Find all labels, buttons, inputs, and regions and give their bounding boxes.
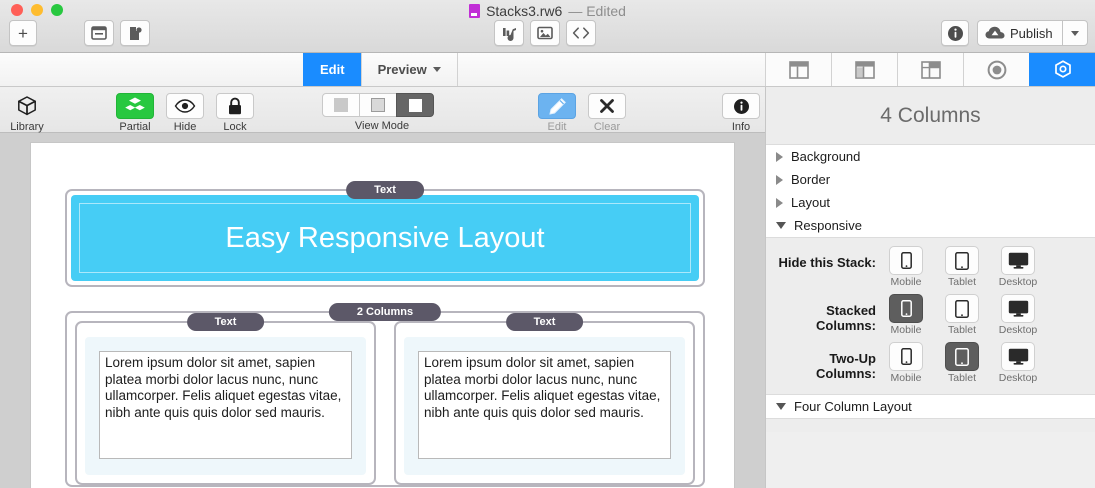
library-button[interactable]: Library <box>2 93 52 133</box>
chevron-down-icon <box>776 222 786 229</box>
desktop-icon <box>1001 246 1035 275</box>
cloud-upload-icon <box>985 26 1005 40</box>
editor-canvas[interactable]: Text Easy Responsive Layout 2 Columns Te… <box>0 133 765 488</box>
inspector-section-border[interactable]: Border <box>766 168 1095 191</box>
twoup-desktop-caption: Desktop <box>996 372 1040 384</box>
desktop-icon <box>1001 294 1035 323</box>
two-up-columns-desktop[interactable]: Desktop <box>996 342 1040 384</box>
desktop-icon <box>1001 342 1035 371</box>
close-button[interactable] <box>11 4 23 16</box>
add-page-button[interactable]: + <box>9 20 37 46</box>
traffic-lights <box>11 4 63 16</box>
hide-this-stack-mobile[interactable]: Mobile <box>884 246 928 288</box>
inspector-section-layout[interactable]: Layout <box>766 191 1095 214</box>
view-mode-option-framed[interactable] <box>396 93 434 117</box>
inspector-title: 4 Columns <box>766 87 1095 145</box>
edit-stack-label: Edit <box>536 121 578 133</box>
column-two-padding: Lorem ipsum dolor sit amet, sapien plate… <box>404 337 685 475</box>
zoom-button[interactable] <box>51 4 63 16</box>
tab-page-style-inspector[interactable] <box>831 53 897 86</box>
two-up-columns-options: Mobile Tablet Desktop <box>884 342 1040 384</box>
hide-this-stack-label: Hide this Stack: <box>766 246 884 270</box>
stacked-columns-options: Mobile Tablet Desktop <box>884 294 1040 336</box>
document-name: Stacks3.rw6 <box>486 3 562 19</box>
stacked-columns-label: Stacked Columns: <box>766 294 884 333</box>
tab-stacks-settings[interactable] <box>1029 53 1095 86</box>
inspector-section-list: Background Border Layout Responsive <box>766 145 1095 237</box>
column-one-badge[interactable]: Text <box>187 313 265 331</box>
publish-label: Publish <box>1010 26 1053 41</box>
master-style-icon <box>127 26 143 41</box>
document-edited-state: — Edited <box>568 3 626 19</box>
chevron-right-icon <box>776 152 783 162</box>
twoup-tablet-caption: Tablet <box>940 372 984 384</box>
two-up-columns-mobile[interactable]: Mobile <box>884 342 928 384</box>
tablet-icon <box>945 294 979 323</box>
outline-square-icon <box>371 98 385 112</box>
publish-control: Publish <box>977 20 1088 46</box>
photos-button[interactable] <box>530 20 560 46</box>
view-mode-option-filled[interactable] <box>322 93 360 117</box>
tab-sidebar-inspector[interactable] <box>897 53 963 86</box>
code-button[interactable] <box>566 20 596 46</box>
hide-desktop-caption: Desktop <box>996 276 1040 288</box>
inspector-section-border-label: Border <box>791 172 830 187</box>
stacked-columns-desktop[interactable]: Desktop <box>996 294 1040 336</box>
edit-preview-segmented-control: Edit Preview <box>304 53 458 86</box>
two-columns-stack[interactable]: 2 Columns Text Lorem ipsum dolor sit ame… <box>65 311 705 487</box>
hide-tablet-caption: Tablet <box>940 276 984 288</box>
minimize-button[interactable] <box>31 4 43 16</box>
stacks-toolbar: Library Partial Hide <box>0 87 765 133</box>
sidebar-inspector-icon <box>921 61 941 79</box>
responsive-settings: Hide this Stack: Mobile Tablet <box>766 237 1095 394</box>
stacked-columns-mobile[interactable]: Mobile <box>884 294 928 336</box>
inspector-section-background-label: Background <box>791 149 860 164</box>
page-inspector-button[interactable] <box>84 20 114 46</box>
hero-text-frame[interactable]: Easy Responsive Layout <box>79 203 691 273</box>
hide-button[interactable]: Hide <box>160 93 210 133</box>
photos-icon <box>537 26 553 40</box>
page-style-inspector-icon <box>855 61 875 79</box>
two-up-columns-label: Two-Up Columns: <box>766 342 884 381</box>
inspector-section-background[interactable]: Background <box>766 145 1095 168</box>
hide-this-stack-tablet[interactable]: Tablet <box>940 246 984 288</box>
code-icon <box>572 27 590 39</box>
two-up-columns-tablet[interactable]: Tablet <box>940 342 984 384</box>
hide-this-stack-row: Hide this Stack: Mobile Tablet <box>766 246 1095 288</box>
media-inspector-icon <box>501 26 517 41</box>
document-info-button[interactable] <box>941 20 969 46</box>
x-icon <box>588 93 626 119</box>
column-two-text[interactable]: Lorem ipsum dolor sit amet, sapien plate… <box>418 351 671 459</box>
tablet-icon <box>945 342 979 371</box>
stack-info-label: Info <box>720 121 762 133</box>
view-mode-segmented-control <box>322 93 434 117</box>
page-inspector-icon <box>91 26 107 40</box>
eye-icon <box>166 93 204 119</box>
hero-stack-badge[interactable]: Text <box>346 181 424 199</box>
title-bar: Stacks3.rw6 — Edited + <box>0 0 1095 53</box>
media-inspector-button[interactable] <box>494 20 524 46</box>
lock-icon <box>216 93 254 119</box>
library-label: Library <box>2 121 52 133</box>
tablet-icon <box>945 246 979 275</box>
info-circle-icon <box>722 93 760 119</box>
inspector-section-layout-label: Layout <box>791 195 830 210</box>
tab-layout-inspector[interactable] <box>765 53 831 86</box>
inspector-panel-filler <box>766 418 1095 432</box>
column-two-badge[interactable]: Text <box>506 313 584 331</box>
inspector-section-responsive-label: Responsive <box>794 218 862 233</box>
chevron-down-icon <box>433 67 441 72</box>
hero-stack[interactable]: Text Easy Responsive Layout <box>65 189 705 287</box>
column-one[interactable]: Text Lorem ipsum dolor sit amet, sapien … <box>75 321 376 485</box>
stacked-tablet-caption: Tablet <box>940 324 984 336</box>
hide-label: Hide <box>160 121 210 133</box>
lock-label: Lock <box>210 121 260 133</box>
hero-stack-fill: Easy Responsive Layout <box>71 195 699 281</box>
mode-bar: Edit Preview <box>0 53 1095 87</box>
two-columns-stack-badge[interactable]: 2 Columns <box>329 303 441 321</box>
stack-info-button[interactable]: Info <box>720 93 762 133</box>
stacked-mobile-caption: Mobile <box>884 324 928 336</box>
publish-button[interactable]: Publish <box>977 20 1062 46</box>
inspector-section-responsive[interactable]: Responsive <box>766 214 1095 237</box>
chevron-down-icon <box>776 403 786 410</box>
mobile-icon <box>889 246 923 275</box>
framed-square-icon <box>409 99 422 112</box>
chevron-down-icon <box>1071 31 1079 36</box>
tab-preview[interactable]: Preview <box>361 53 458 86</box>
hero-heading: Easy Responsive Layout <box>225 222 544 255</box>
tab-target-inspector[interactable] <box>963 53 1029 86</box>
plus-icon: + <box>18 25 28 42</box>
columns-container: Text Lorem ipsum dolor sit amet, sapien … <box>75 321 695 485</box>
stacks-icon <box>116 93 154 119</box>
hide-this-stack-options: Mobile Tablet Desktop <box>884 246 1040 288</box>
mobile-icon <box>889 294 923 323</box>
view-mode-label: View Mode <box>322 120 442 132</box>
document-icon <box>469 4 480 18</box>
hide-mobile-caption: Mobile <box>884 276 928 288</box>
two-up-columns-row: Two-Up Columns: Mobile Tablet <box>766 342 1095 384</box>
edit-stack-button[interactable]: Edit <box>536 93 578 133</box>
stacks-inspector-panel: 4 Columns Background Border Layout Respo… <box>765 87 1095 488</box>
master-style-button[interactable] <box>120 20 150 46</box>
page-surface[interactable]: Text Easy Responsive Layout 2 Columns Te… <box>30 142 735 488</box>
filled-square-icon <box>334 98 348 112</box>
inspector-section-four-column-layout-label: Four Column Layout <box>794 399 912 414</box>
twoup-mobile-caption: Mobile <box>884 372 928 384</box>
mobile-icon <box>889 342 923 371</box>
stacked-columns-row: Stacked Columns: Mobile Tablet <box>766 294 1095 336</box>
stacked-desktop-caption: Desktop <box>996 324 1040 336</box>
partial-button[interactable]: Partial <box>110 93 160 133</box>
tab-edit[interactable]: Edit <box>303 53 362 86</box>
publish-options-button[interactable] <box>1062 20 1088 46</box>
layout-inspector-icon <box>789 61 809 79</box>
clear-stack-button[interactable]: Clear <box>586 93 628 133</box>
rapidweaver-window: Stacks3.rw6 — Edited + <box>0 0 1095 488</box>
lock-button[interactable]: Lock <box>210 93 260 133</box>
stacks-settings-icon <box>1052 59 1074 81</box>
hide-this-stack-desktop[interactable]: Desktop <box>996 246 1040 288</box>
document-title: Stacks3.rw6 — Edited <box>0 0 1095 22</box>
tab-preview-label: Preview <box>378 62 427 77</box>
cube-icon <box>8 93 46 119</box>
clear-stack-label: Clear <box>586 121 628 133</box>
column-two[interactable]: Text Lorem ipsum dolor sit amet, sapien … <box>394 321 695 485</box>
inspector-section-four-column-layout[interactable]: Four Column Layout <box>766 394 1095 418</box>
stacked-columns-tablet[interactable]: Tablet <box>940 294 984 336</box>
tab-edit-label: Edit <box>320 62 345 77</box>
chevron-right-icon <box>776 198 783 208</box>
pencil-icon <box>538 93 576 119</box>
info-icon <box>947 25 964 42</box>
view-mode-option-outline[interactable] <box>359 93 397 117</box>
chevron-right-icon <box>776 175 783 185</box>
target-inspector-icon <box>986 59 1008 81</box>
column-one-text[interactable]: Lorem ipsum dolor sit amet, sapien plate… <box>99 351 352 459</box>
inspector-tab-bar <box>765 53 1095 86</box>
column-one-padding: Lorem ipsum dolor sit amet, sapien plate… <box>85 337 366 475</box>
partial-label: Partial <box>110 121 160 133</box>
